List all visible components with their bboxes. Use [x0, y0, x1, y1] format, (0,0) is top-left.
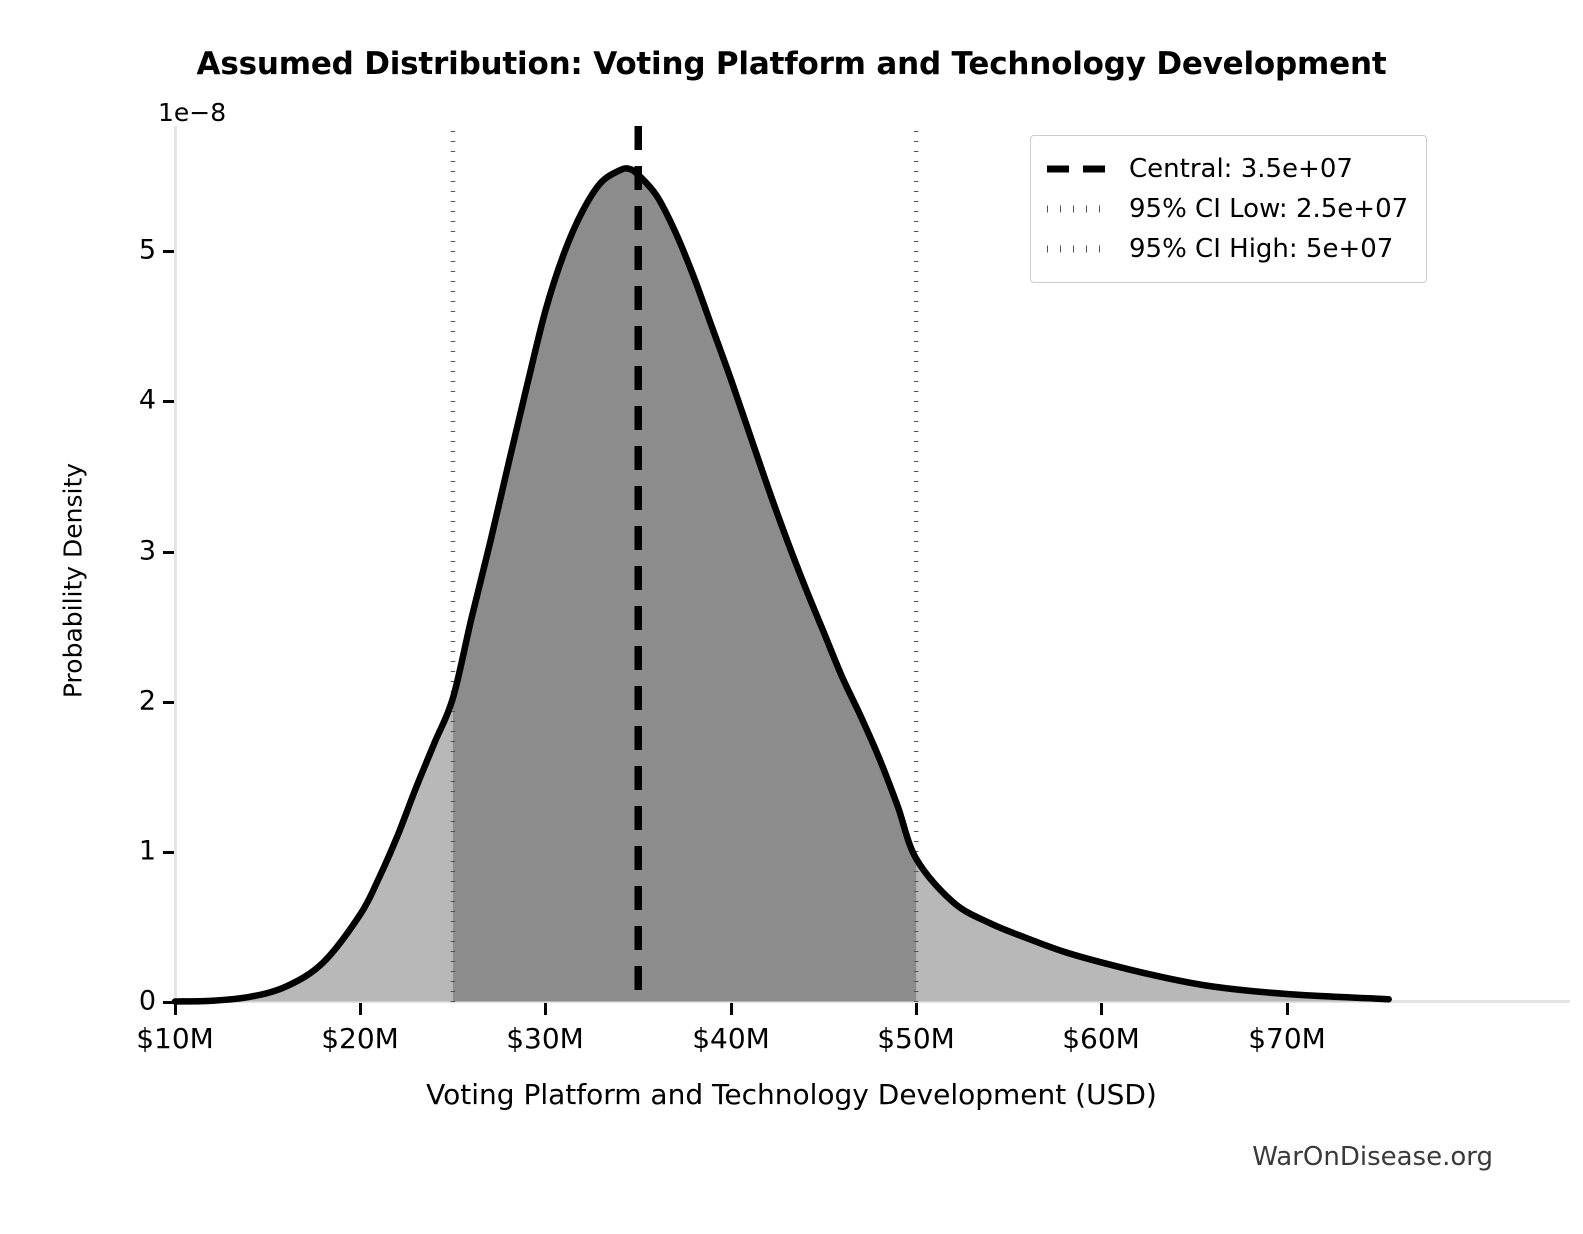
legend-label-central: Central: 3.5e+07 [1129, 154, 1353, 184]
dotted-line-icon [1045, 199, 1111, 219]
legend-item-central: Central: 3.5e+07 [1045, 149, 1408, 189]
legend-label-ci-high: 95% CI High: 5e+07 [1129, 234, 1393, 264]
chart-page: Assumed Distribution: Voting Platform an… [0, 0, 1583, 1234]
dotted-line-icon [1045, 239, 1111, 259]
dashed-line-icon [1045, 159, 1111, 179]
watermark-footer: WarOnDisease.org [1252, 1142, 1493, 1172]
legend: Central: 3.5e+07 95% CI Low: 2.5e+07 95%… [1030, 135, 1427, 283]
distribution-fill-ci [175, 168, 1389, 1001]
legend-item-ci-high: 95% CI High: 5e+07 [1045, 229, 1408, 269]
legend-label-ci-low: 95% CI Low: 2.5e+07 [1129, 194, 1408, 224]
legend-item-ci-low: 95% CI Low: 2.5e+07 [1045, 189, 1408, 229]
